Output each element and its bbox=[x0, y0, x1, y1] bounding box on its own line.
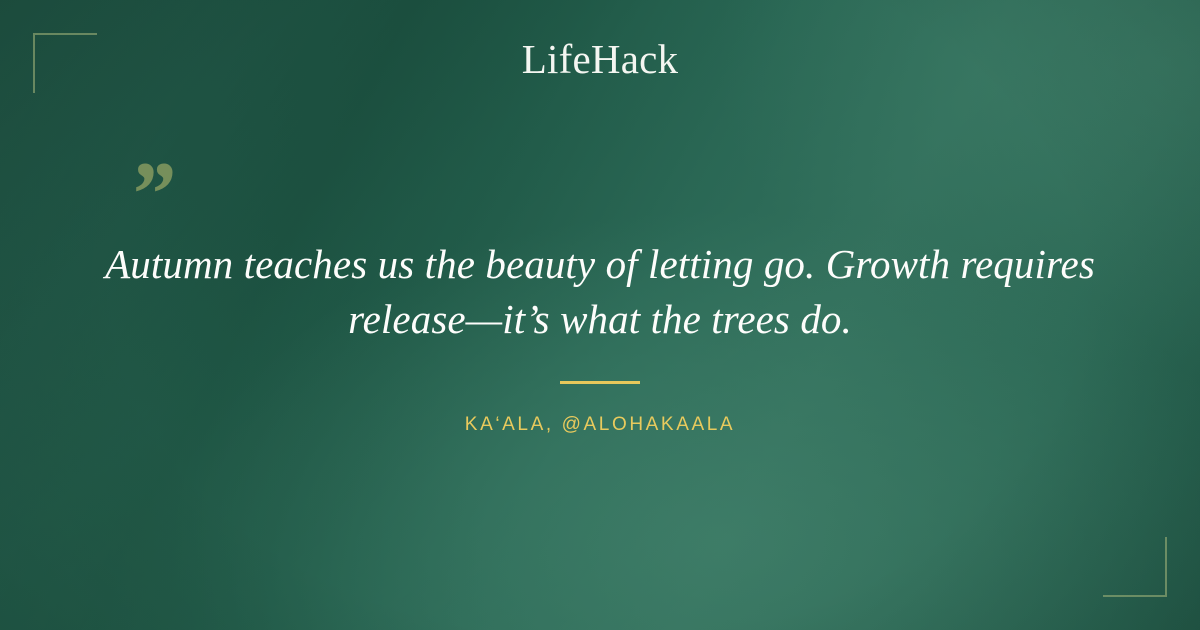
corner-bracket-bottom-right-icon bbox=[1103, 537, 1167, 597]
quotation-mark-icon: ” bbox=[128, 148, 174, 240]
quote-attribution: KA‘ALA, @ALOHAKAALA bbox=[0, 414, 1200, 436]
quote-text: Autumn teaches us the beauty of letting … bbox=[80, 237, 1120, 346]
divider-wrap bbox=[0, 381, 1200, 384]
quote-card: LifeHack ” Autumn teaches us the beauty … bbox=[0, 0, 1200, 630]
gold-divider bbox=[560, 381, 640, 384]
quote-block: Autumn teaches us the beauty of letting … bbox=[80, 237, 1120, 346]
brand-logo: LifeHack bbox=[0, 39, 1200, 80]
